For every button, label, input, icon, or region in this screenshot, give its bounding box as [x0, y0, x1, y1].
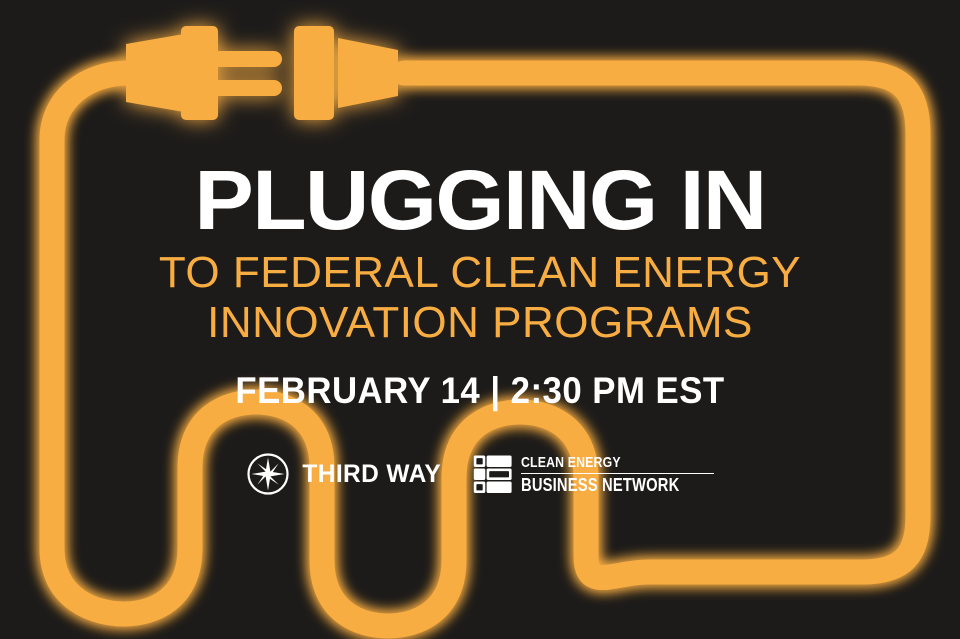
- subtitle-line-2: INNOVATION PROGRAMS: [0, 301, 960, 345]
- text-stack: PLUGGING IN TO FEDERAL CLEAN ENERGY INNO…: [0, 0, 960, 639]
- promo-poster: PLUGGING IN TO FEDERAL CLEAN ENERGY INNO…: [0, 0, 960, 639]
- cebn-line-1: CLEAN ENERGY: [521, 455, 679, 472]
- logo-row: THIRD WAY: [0, 443, 960, 505]
- event-datetime: FEBRUARY 14 | 2:30 PM EST: [29, 370, 931, 412]
- cebn-divider: [521, 473, 714, 474]
- cebn-wordmark: CLEAN ENERGY BUSINESS NETWORK: [521, 455, 714, 494]
- third-way-logo: THIRD WAY: [246, 452, 443, 496]
- cebn-line-2: BUSINESS NETWORK: [521, 476, 679, 494]
- subtitle-line-1: TO FEDERAL CLEAN ENERGY: [0, 251, 960, 295]
- cebn-logo: CLEAN ENERGY BUSINESS NETWORK: [473, 454, 714, 495]
- third-way-wordmark: THIRD WAY: [303, 460, 442, 489]
- page-title: PLUGGING IN: [0, 160, 960, 241]
- block-grid-icon: [473, 454, 514, 495]
- compass-star-icon: [246, 452, 290, 496]
